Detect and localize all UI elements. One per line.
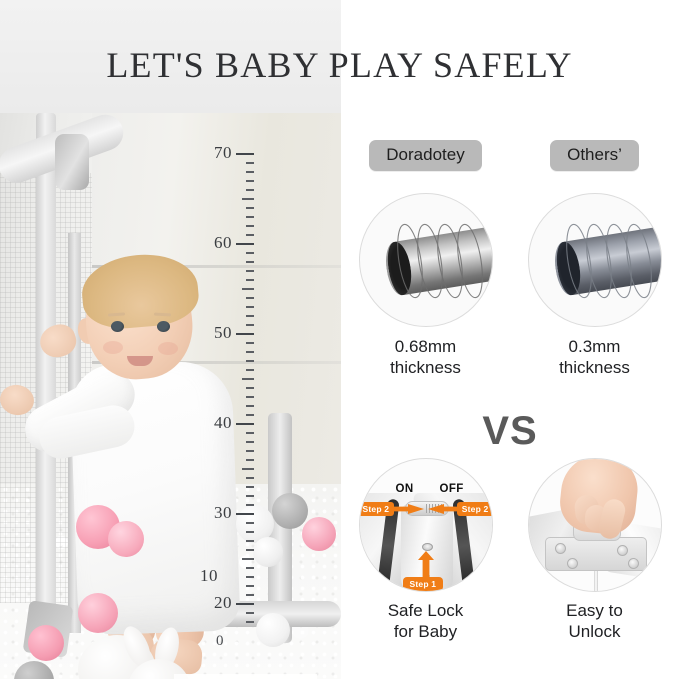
brand-badge-row: Doradotey Others’ [341, 140, 679, 171]
infographic-page: LET'S BABY PLAY SAFELY [0, 0, 679, 679]
tube-thickness-brand-value: 0.68mm [390, 336, 461, 357]
tube-body-brand [382, 225, 492, 297]
vs-label: VS [341, 409, 679, 454]
brand-badge-cell: Doradotey [341, 140, 510, 171]
tube-thickness-others-value: 0.3mm [559, 336, 630, 357]
ruler-number-50: 50 [214, 323, 232, 343]
ruler-number-60: 60 [214, 233, 232, 253]
unlock-caption: Easy to Unlock [566, 600, 623, 643]
ball-pink-3 [78, 593, 118, 633]
badge-doradotey: Doradotey [369, 140, 481, 171]
baby-eye-right [157, 321, 170, 332]
height-ruler: 70 60 50 40 30 20 [236, 113, 254, 661]
tube-photo-brand [359, 193, 493, 327]
lock-caption-line2: for Baby [388, 621, 464, 642]
tube-thickness-brand: 0.68mm thickness [390, 336, 461, 379]
lock-on-label: ON [396, 483, 414, 495]
playpen-vertical-rail [36, 113, 56, 613]
lock-off-label: OFF [440, 483, 464, 495]
others-badge-cell: Others’ [510, 140, 679, 171]
tube-cell-brand: 0.68mm thickness [341, 193, 510, 379]
lock-cell-easy-unlock: Easy to Unlock [510, 458, 679, 643]
lock-photo-easy-unlock [528, 458, 662, 592]
unlock-plate-hole-4 [628, 558, 639, 569]
page-title: LET'S BABY PLAY SAFELY [0, 44, 679, 86]
ruler-number-30: 30 [214, 503, 232, 523]
ball-white-2 [253, 537, 283, 567]
unlock-plate-hole-1 [555, 543, 566, 554]
tube-thickness-brand-unit: thickness [390, 357, 461, 378]
lock-screw [422, 543, 433, 551]
step2-left-tag: Step 2 [359, 502, 395, 516]
step1-arrow-icon [418, 551, 434, 577]
tube-thickness-others-unit: thickness [559, 357, 630, 378]
ball-pink-4 [28, 625, 64, 661]
step2-right-tag: Step 2 [457, 502, 493, 516]
tube-thickness-others: 0.3mm thickness [559, 336, 630, 379]
lock-cell-safe-lock: ON OFF Step 2 Step 2 [341, 458, 510, 643]
lock-caption-safe-lock: Safe Lock for Baby [388, 600, 464, 643]
baby-eye-left [111, 321, 124, 332]
lock-caption-line1: Safe Lock [388, 600, 464, 621]
unlock-caption-line2: Unlock [566, 621, 623, 642]
baby-cheek-left [103, 341, 123, 354]
unlock-plate-hole-3 [617, 545, 628, 556]
lock-comparison-row: ON OFF Step 2 Step 2 [341, 458, 679, 643]
lock-photo-safe-lock: ON OFF Step 2 Step 2 [359, 458, 493, 592]
unlock-plate-hole-2 [567, 558, 578, 569]
ruler-number-40: 40 [214, 413, 232, 433]
ball-pink-5 [302, 517, 336, 551]
playpen-joint [55, 134, 89, 190]
tube-cell-others: 0.3mm thickness [510, 193, 679, 379]
baby-playpen-photo: 70 60 50 40 30 20 10 0 Safe Height 26.77… [0, 113, 341, 679]
ball-white-3 [256, 613, 290, 647]
ruler-number-20: 20 [214, 593, 232, 613]
tube-photo-others [528, 193, 662, 327]
safe-height-callout: Safe Height 26.77in/68cm [174, 674, 317, 679]
right-comparison-panel: Doradotey Others’ [341, 113, 679, 679]
ball-pink-2 [108, 521, 144, 557]
ruler-number-70: 70 [214, 143, 232, 163]
unlock-caption-line1: Easy to [566, 600, 623, 621]
badge-others: Others’ [550, 140, 639, 171]
tube-comparison-row: 0.68mm thickness [341, 193, 679, 379]
baby-cheek-right [158, 342, 178, 355]
ball-gray-2 [272, 493, 308, 529]
ruler-number-10: 10 [200, 566, 218, 586]
tube-body-others [551, 225, 661, 297]
step1-tag: Step 1 [403, 577, 444, 591]
ruler-number-0: 0 [216, 633, 224, 650]
